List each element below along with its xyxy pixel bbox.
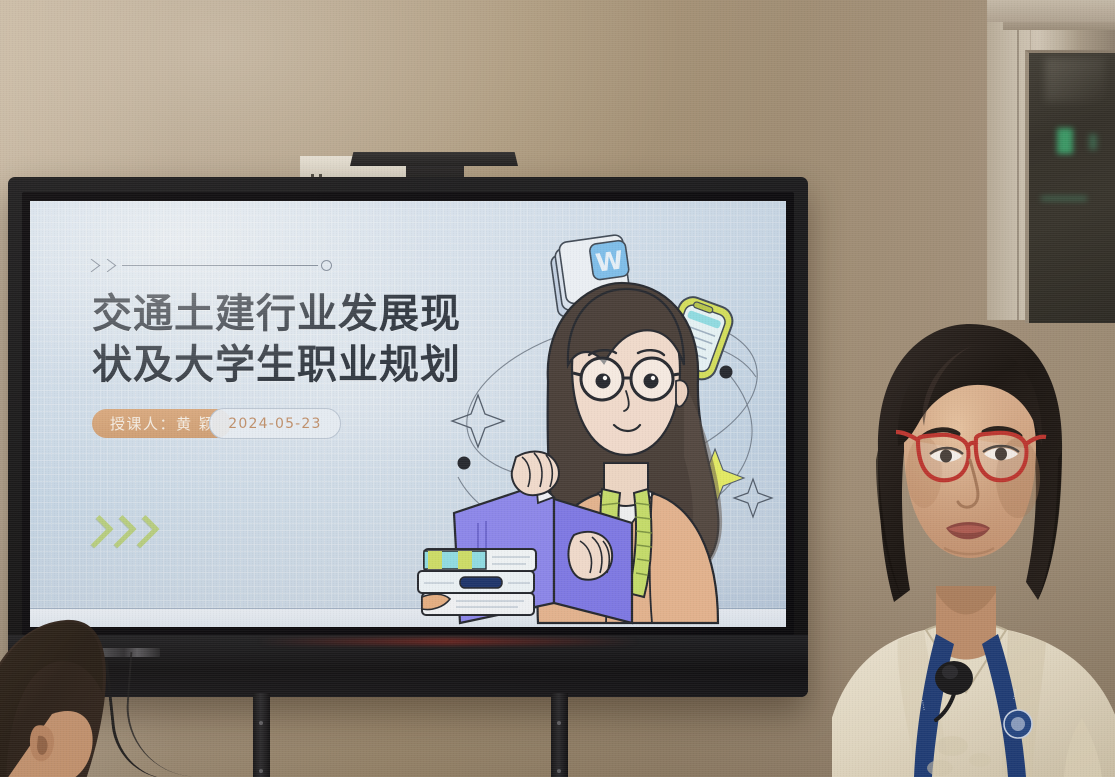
slide-screen-glare	[30, 201, 438, 397]
student-foreground	[0, 596, 177, 777]
door-glass-sheen	[1045, 58, 1105, 102]
door-header-lower	[1003, 22, 1115, 30]
green-reflection-secondary	[1089, 134, 1097, 150]
door-header	[987, 0, 1115, 22]
svg-text:W: W	[594, 245, 625, 278]
classroom-photo-scene: 交通土建行业发展现 状及大学生职业规划 2024-05-23 授课人：黄 颖	[0, 0, 1115, 777]
slide-date-pill: 2024-05-23	[209, 408, 340, 439]
stand-leg-left	[253, 693, 270, 777]
lecturer: ····· ·····	[832, 300, 1115, 777]
green-reflection-streak	[1041, 196, 1087, 201]
decorative-chevrons	[87, 518, 155, 545]
door-frame	[987, 0, 1115, 320]
green-exit-light-reflection	[1057, 128, 1073, 154]
presentation-slide[interactable]: 交通土建行业发展现 状及大学生职业规划 2024-05-23 授课人：黄 颖	[30, 201, 786, 627]
woman-reading-book-illustration: W	[426, 231, 786, 623]
door-jamb-edge	[1017, 0, 1019, 320]
stand-leg-right	[551, 693, 568, 777]
panel-bottom-reflection	[258, 638, 638, 645]
camera-soundbar	[350, 152, 518, 166]
chevron-right-icon-3	[126, 515, 159, 548]
slide-byline: 2024-05-23 授课人：黄 颖	[92, 408, 341, 439]
